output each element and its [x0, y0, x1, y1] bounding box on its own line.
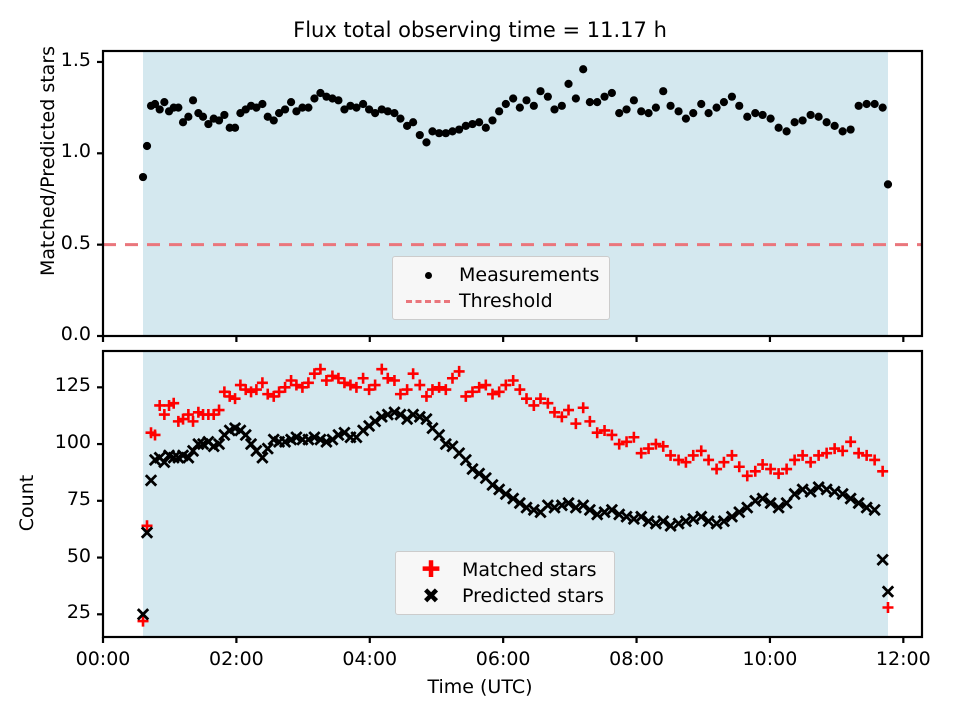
measurement-point [304, 104, 312, 112]
measurement-point [600, 93, 608, 101]
measurement-point [682, 114, 690, 122]
measurement-point [767, 114, 775, 122]
measurement-point [488, 116, 496, 124]
measurement-point [220, 111, 228, 119]
measurement-point [759, 111, 767, 119]
measurement-point [502, 100, 510, 108]
measurement-point [815, 113, 823, 121]
measurement-point [879, 104, 887, 112]
measurement-point [637, 107, 645, 115]
measurement-point [644, 109, 652, 117]
measurement-point [608, 89, 616, 97]
measurement-point [712, 104, 720, 112]
measurement-point [622, 105, 630, 113]
predicted-stars-cross-icon: ✖ [404, 586, 458, 607]
measurement-point [396, 114, 404, 122]
measurement-point [258, 100, 266, 108]
measurement-point [189, 96, 197, 104]
measurement-point [544, 93, 552, 101]
x-axis-label: Time (UTC) [0, 676, 960, 698]
measurement-point [550, 105, 558, 113]
bottom-panel-y-tick-label-125: 125 [31, 374, 91, 396]
measurement-point [831, 122, 839, 130]
measurement-point [579, 65, 587, 73]
measurement-point [884, 180, 892, 188]
measurement-point [143, 142, 151, 150]
measurement-point [799, 116, 807, 124]
measurement-point [530, 102, 538, 110]
measurement-point [743, 113, 751, 121]
threshold-dashed-line-icon [401, 300, 455, 303]
measurement-point [863, 100, 871, 108]
measurement-point [720, 98, 728, 106]
measurement-point [728, 93, 736, 101]
top-panel-y-tick-label-1.0: 1.0 [31, 140, 91, 162]
measurement-point [855, 102, 863, 110]
measurement-point [422, 138, 430, 146]
bottom-panel-y-tick-label-50: 50 [31, 545, 91, 567]
measurement-point [847, 125, 855, 133]
measurement-point [139, 173, 147, 181]
measurement-point [334, 96, 342, 104]
measurement-point [270, 116, 278, 124]
measurement-point [615, 109, 623, 117]
measurement-point [522, 96, 530, 104]
measurement-point [783, 127, 791, 135]
x-tick-label-0000: 00:00 [63, 648, 143, 670]
measurement-point [558, 102, 566, 110]
measurement-point [593, 98, 601, 106]
bottom-panel-y-tick-label-100: 100 [31, 431, 91, 453]
measurement-point [689, 109, 697, 117]
bottom-panel-legend: ✚ Matched stars ✖ Predicted stars [395, 551, 615, 615]
measurement-point [630, 96, 638, 104]
measurement-point [823, 118, 831, 126]
top-panel-y-tick-label-0.0: 0.0 [31, 323, 91, 345]
measurement-point [674, 107, 682, 115]
measurement-point [735, 102, 743, 110]
measurement-point [791, 118, 799, 126]
measurement-point [416, 131, 424, 139]
legend-label-threshold: Threshold [459, 290, 553, 312]
measurement-point [509, 94, 517, 102]
measurement-point [156, 105, 164, 113]
legend-label-predicted-stars: Predicted stars [462, 585, 604, 607]
measurement-point [409, 118, 417, 126]
measurement-point [184, 113, 192, 121]
top-panel-y-tick-label-0.5: 0.5 [31, 232, 91, 254]
legend-item-threshold: Threshold [401, 288, 599, 314]
measurement-point [666, 102, 674, 110]
measurement-point [495, 107, 503, 115]
measurement-point [586, 98, 594, 106]
matched-stars-plus-icon: ✚ [404, 559, 458, 582]
x-tick-label-0800: 08:00 [597, 648, 677, 670]
x-tick-label-0400: 04:00 [330, 648, 410, 670]
legend-item-matched-stars: ✚ Matched stars [404, 557, 604, 583]
legend-item-measurements: Measurements [401, 262, 599, 288]
bottom-panel-y-tick-label-25: 25 [31, 601, 91, 623]
measurement-point [652, 104, 660, 112]
legend-label-matched-stars: Matched stars [462, 559, 596, 581]
measurement-point [572, 94, 580, 102]
measurement-point [536, 87, 544, 95]
x-tick-label-1200: 12:00 [863, 648, 943, 670]
measurement-point [199, 113, 207, 121]
legend-item-predicted-stars: ✖ Predicted stars [404, 583, 604, 609]
measurement-point [174, 104, 182, 112]
legend-label-measurements: Measurements [459, 264, 599, 286]
bottom-panel-y-tick-label-75: 75 [31, 488, 91, 510]
x-tick-label-0600: 06:00 [463, 648, 543, 670]
x-tick-label-1000: 10:00 [730, 648, 810, 670]
measurement-point [287, 98, 295, 106]
measurement-point [160, 98, 168, 106]
measurement-point [807, 111, 815, 119]
measurement-point [482, 124, 490, 132]
measurement-point [659, 87, 667, 95]
measurement-point [751, 109, 759, 117]
measurement-point [697, 100, 705, 108]
measurement-point [839, 127, 847, 135]
measurement-point [231, 124, 239, 132]
measurements-dot-icon [401, 272, 455, 279]
measurement-point [475, 118, 483, 126]
measurement-point [564, 80, 572, 88]
measurement-point [775, 124, 783, 132]
measurement-point [281, 105, 289, 113]
figure-container: Flux total observing time = 11.17 h Matc… [0, 0, 960, 720]
top-panel-y-tick-label-1.5: 1.5 [31, 49, 91, 71]
top-panel-legend: Measurements Threshold [392, 256, 610, 320]
measurement-point [871, 100, 879, 108]
measurement-point [516, 104, 524, 112]
measurement-point [704, 109, 712, 117]
x-tick-label-0200: 02:00 [196, 648, 276, 670]
